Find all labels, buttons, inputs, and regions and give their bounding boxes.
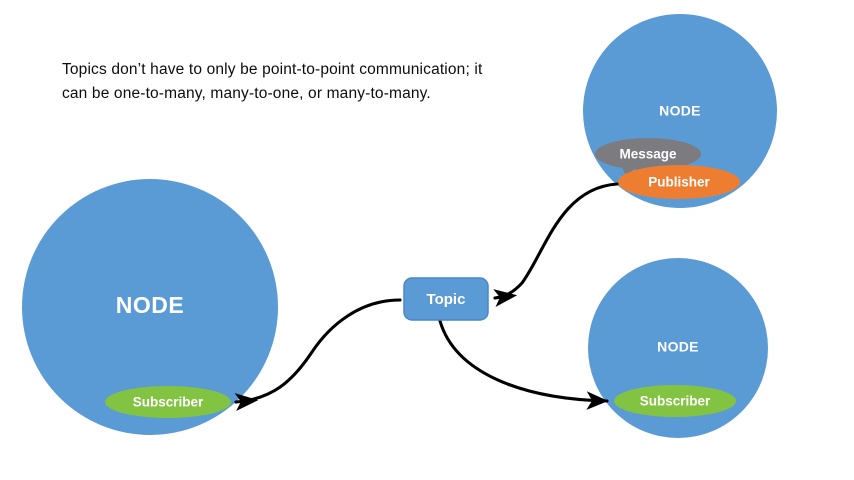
node-publisher-label: NODE [659,103,701,119]
caption-text: Topics don’t have to only be point-to-po… [62,58,492,105]
node-left-label: NODE [116,292,184,318]
arrow-topic-to-subscriber-right [440,321,607,401]
subscriber-left-group[interactable]: Subscriber [105,386,231,418]
node-subscriber-right-label: NODE [657,339,699,355]
subscriber-left-label: Subscriber [133,395,204,410]
publisher-group[interactable]: Publisher [618,165,740,199]
arrow-publisher-to-topic [495,184,617,298]
topic-label: Topic [427,291,466,308]
publisher-label: Publisher [648,175,710,190]
slide-canvas: NODE NODE NODE Message Publisher Subscri… [0,0,854,480]
topic-box-group[interactable]: Topic [404,278,488,320]
subscriber-right-label: Subscriber [640,394,711,409]
message-label: Message [619,147,677,162]
subscriber-right-group[interactable]: Subscriber [614,385,736,417]
